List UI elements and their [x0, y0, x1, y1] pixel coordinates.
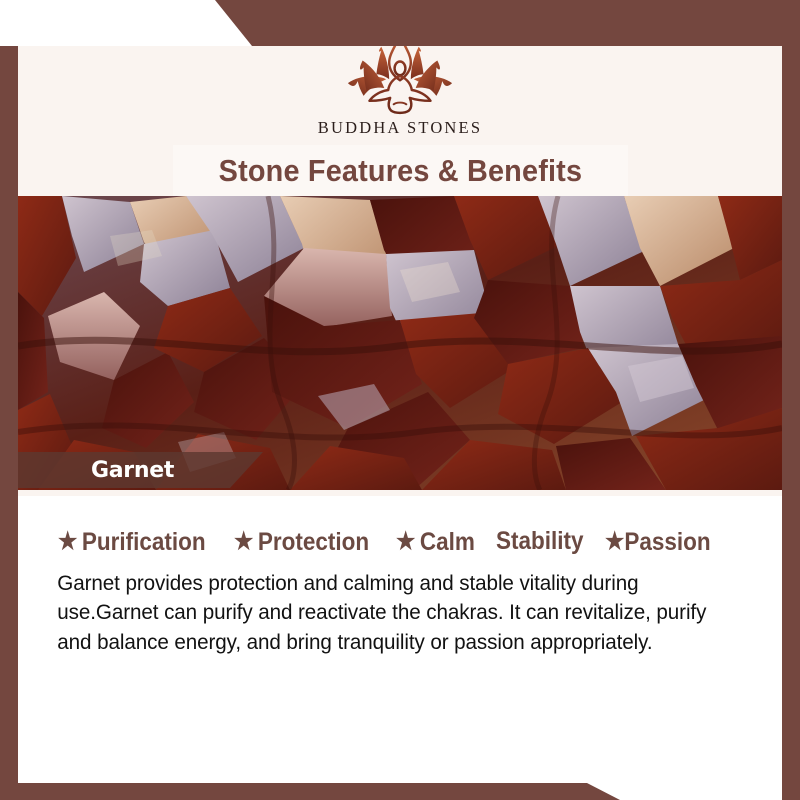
benefit-passion: ★ Passion — [605, 528, 711, 557]
star-icon: ★ — [58, 530, 77, 554]
frame-bottom-bar — [0, 783, 800, 800]
garnet-crystal-photo — [18, 196, 782, 490]
section-title-plate: Stone Features & Benefits — [173, 145, 628, 196]
benefit-stability: Stability — [496, 527, 584, 556]
benefit-protection: ★ Protection — [234, 528, 369, 557]
benefit-label: Purification — [82, 528, 206, 557]
benefit-label: Stability — [496, 527, 584, 556]
benefit-label: Passion — [624, 528, 710, 557]
benefit-calm: ★ Calm — [396, 528, 475, 557]
stone-name-label: Garnet — [91, 458, 174, 483]
frame-right-bar — [782, 0, 800, 800]
star-icon: ★ — [396, 530, 415, 554]
description-text: Garnet provides protection and calming a… — [40, 569, 731, 658]
poster-card: BUDDHA STONES — [18, 46, 782, 783]
stone-name-banner: Garnet — [18, 452, 263, 488]
frame-top-bar — [0, 0, 800, 46]
frame-left-bar — [0, 46, 18, 800]
star-icon: ★ — [234, 530, 253, 554]
description-panel: ★ Purification ★ Protection ★ Calm Stabi… — [18, 496, 782, 783]
product-info-poster: BUDDHA STONES — [0, 0, 800, 800]
benefit-purification: ★ Purification — [58, 528, 206, 557]
page-title: Stone Features & Benefits — [219, 153, 583, 189]
benefit-label: Calm — [420, 528, 475, 557]
star-icon: ★ — [605, 530, 624, 554]
brand-wordmark: BUDDHA STONES — [318, 118, 482, 138]
benefit-label: Protection — [258, 528, 369, 557]
benefits-row: ★ Purification ★ Protection ★ Calm Stabi… — [40, 527, 760, 557]
lotus-meditation-icon — [341, 46, 459, 120]
